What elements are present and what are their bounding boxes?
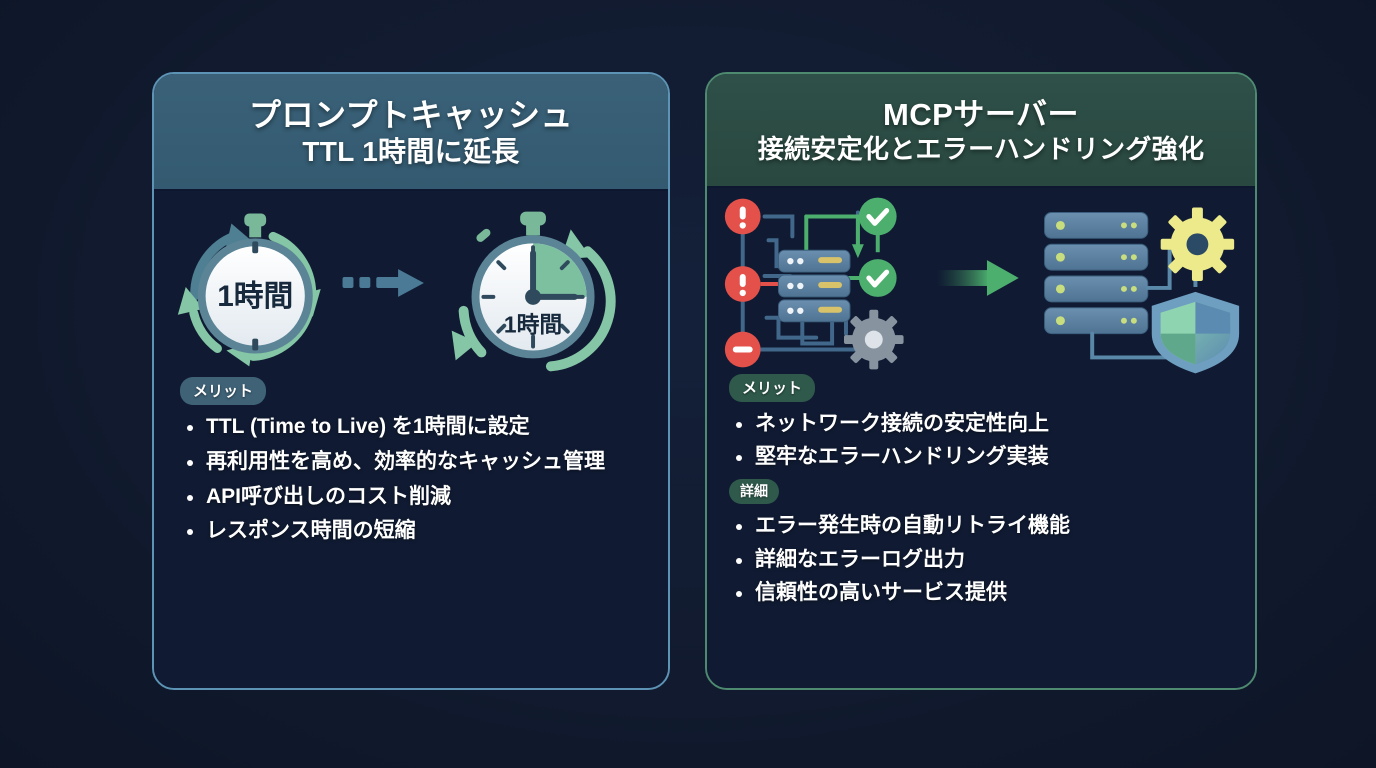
card-title-main: MCPサーバー [725, 96, 1237, 134]
stopwatch-before: 1時間 [178, 214, 321, 367]
card-prompt-cache: プロンプトキャッシュ TTL 1時間に延長 [152, 72, 670, 690]
transition-arrow [343, 269, 424, 297]
gear-icon [844, 309, 904, 369]
check-badge [859, 197, 897, 235]
stopwatch-ttl-illustration: 1時間 [154, 191, 668, 377]
badge-detail: 詳細 [729, 479, 779, 504]
server-node [778, 299, 849, 321]
card-header-mcp-server: MCPサーバー 接続安定化とエラーハンドリング強化 [707, 74, 1255, 188]
server-node [778, 250, 849, 272]
bullet-list-merit-right: ネットワーク接続の安定性向上 堅牢なエラーハンドリング実装 [729, 409, 1233, 473]
section-merit-right: メリット ネットワーク接続の安定性向上 堅牢なエラーハンドリング実装 [707, 374, 1255, 473]
svg-text:1時間: 1時間 [217, 280, 293, 313]
server-rack [1045, 212, 1148, 333]
slide-canvas: プロンプトキャッシュ TTL 1時間に延長 [0, 0, 1376, 768]
transition-arrow [937, 260, 1018, 296]
card-mcp-server: MCPサーバー 接続安定化とエラーハンドリング強化 [705, 72, 1257, 690]
card-title-main: プロンプトキャッシュ [172, 96, 650, 135]
card-title-sub: TTL 1時間に延長 [172, 135, 650, 169]
list-item: ネットワーク接続の安定性向上 [729, 409, 1233, 440]
shield-icon [1152, 291, 1239, 372]
server-node [778, 275, 849, 297]
card-title-sub: 接続安定化とエラーハンドリング強化 [725, 134, 1237, 166]
bullet-list-merit-left: TTL (Time to Live) を1時間に設定 再利用性を高め、効率的なキ… [180, 412, 642, 547]
list-item: 堅牢なエラーハンドリング実装 [729, 442, 1233, 473]
list-item: レスポンス時間の短縮 [180, 516, 642, 547]
list-item: 信頼性の高いサービス提供 [729, 578, 1233, 609]
list-item: 詳細なエラーログ出力 [729, 545, 1233, 576]
list-item: 再利用性を高め、効率的なキャッシュ管理 [180, 447, 642, 478]
section-detail-right: 詳細 エラー発生時の自動リトライ機能 詳細なエラーログ出力 信頼性の高いサービス… [707, 479, 1255, 609]
check-badge [859, 259, 897, 297]
badge-merit: メリット [180, 377, 266, 405]
svg-text:1時間: 1時間 [504, 312, 562, 338]
error-badge [725, 198, 761, 234]
blocked-badge [725, 331, 761, 367]
stopwatch-after: 1時間 [452, 212, 611, 367]
network-stabilization-illustration [707, 188, 1255, 374]
list-item: TTL (Time to Live) を1時間に設定 [180, 412, 642, 443]
gear-icon [1161, 207, 1234, 280]
card-body-prompt-cache: 1時間 [154, 191, 668, 688]
card-header-prompt-cache: プロンプトキャッシュ TTL 1時間に延長 [154, 74, 668, 191]
error-badge [725, 266, 761, 302]
card-body-mcp-server: メリット ネットワーク接続の安定性向上 堅牢なエラーハンドリング実装 詳細 エラ… [707, 188, 1255, 688]
list-item: API呼び出しのコスト削減 [180, 482, 642, 513]
bullet-list-detail-right: エラー発生時の自動リトライ機能 詳細なエラーログ出力 信頼性の高いサービス提供 [729, 511, 1233, 609]
badge-merit: メリット [729, 374, 815, 402]
section-merit-left: メリット TTL (Time to Live) を1時間に設定 再利用性を高め、… [154, 377, 668, 547]
list-item: エラー発生時の自動リトライ機能 [729, 511, 1233, 542]
